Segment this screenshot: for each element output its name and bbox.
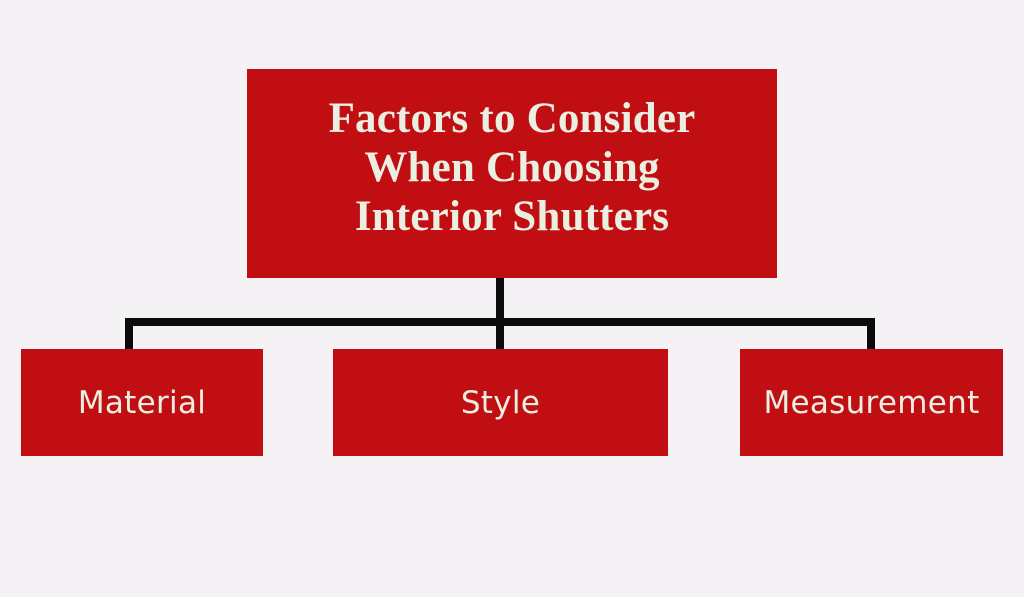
child-node-style[interactable]: Style xyxy=(333,349,668,456)
child-node-material-label: Material xyxy=(68,386,216,420)
root-node[interactable]: Factors to Consider When Choosing Interi… xyxy=(247,69,777,278)
child-node-measurement[interactable]: Measurement xyxy=(740,349,1003,456)
connector-drop-material xyxy=(125,318,133,351)
child-node-style-label: Style xyxy=(451,386,550,420)
diagram-canvas: Factors to Consider When Choosing Interi… xyxy=(0,0,1024,597)
root-node-title: Factors to Consider When Choosing Interi… xyxy=(315,94,710,241)
connector-root-stem xyxy=(496,278,504,322)
child-node-material[interactable]: Material xyxy=(21,349,263,456)
connector-drop-style xyxy=(496,318,504,351)
connector-drop-measurement xyxy=(867,318,875,351)
child-node-measurement-label: Measurement xyxy=(753,386,989,420)
